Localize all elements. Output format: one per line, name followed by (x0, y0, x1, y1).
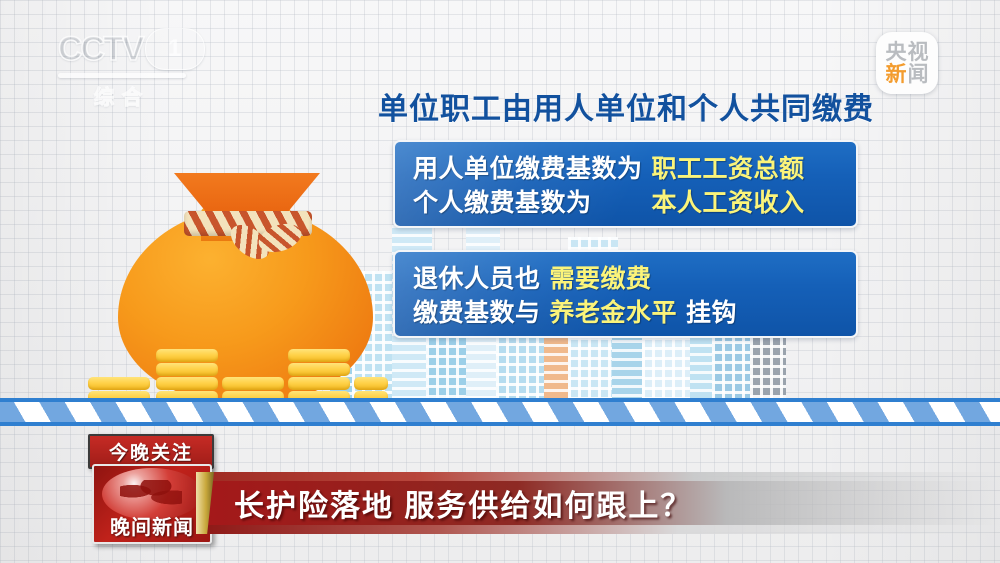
lower-third-headline: 长护险落地 服务供给如何跟上？ (234, 481, 692, 525)
info-line-plain: 缴费基数与 (413, 293, 541, 329)
retiree-contribution-box: 退休人员也 需要缴费 缴费基数与 养老金水平 挂钩 (393, 250, 858, 338)
coin (288, 363, 350, 376)
program-logo: 晚间新闻 (92, 464, 212, 544)
info-line-highlight: 需要缴费 (550, 259, 652, 295)
coin (222, 377, 284, 390)
info-line-plain: 退休人员也 (413, 259, 541, 295)
coin-stack-2 (156, 349, 218, 405)
app-icon-char-shi: 视 (908, 42, 929, 63)
coin (288, 349, 350, 362)
info-line: 缴费基数与 养老金水平 挂钩 (413, 294, 838, 328)
headline-bar: 长护险落地 服务供给如何跟上？ (196, 472, 1000, 534)
cctv-channel-subtitle: 综合 (58, 81, 186, 110)
app-icon-char-yang: 央 (886, 42, 907, 63)
lower-third: 今晚关注 晚间新闻 长护险落地 服务供给如何跟上？ (0, 428, 1000, 553)
app-icon-char-xin: 新 (886, 64, 907, 85)
info-line-highlight: 养老金水平 (550, 293, 678, 329)
headline-bar-bottom-edge (196, 525, 1000, 534)
coin (156, 349, 218, 362)
cctv-logo-bar (58, 73, 186, 78)
coin (156, 363, 218, 376)
ground-stripe (0, 398, 1000, 426)
ground-edge-bottom (0, 422, 1000, 426)
info-line-plain: 个人缴费基数为 (413, 183, 592, 219)
contribution-base-box: 用人单位缴费基数为 职工工资总额 个人缴费基数为 本人工资收入 (393, 140, 858, 228)
app-icon-row-bottom: 新 闻 (886, 64, 929, 85)
main-headline: 单位职工由用人单位和个人共同缴费 (378, 84, 878, 128)
info-line: 用人单位缴费基数为 职工工资总额 (413, 150, 838, 184)
info-line-highlight: 本人工资收入 (652, 183, 805, 219)
cctv-news-app-icon: 央 视 新 闻 (876, 32, 938, 94)
coin (288, 377, 350, 390)
app-icon-row-top: 央 视 (886, 42, 929, 63)
coin-stacks (88, 335, 388, 405)
program-logo-label: 晚间新闻 (94, 511, 210, 540)
cctv-wordmark: CCTV (58, 30, 143, 69)
info-line: 个人缴费基数为 本人工资收入 (413, 184, 838, 218)
coin-stack-4 (288, 349, 350, 405)
broadcast-frame: CCTV 1 综合 央 视 新 闻 单位职工由用人单位和个人共同缴费 用人单位缴… (0, 0, 1000, 563)
cctv-channel-number: 1 (145, 28, 205, 70)
coin (156, 377, 218, 390)
coin (88, 377, 150, 390)
info-line-tail: 挂钩 (686, 293, 737, 329)
info-line-highlight: 职工工资总额 (652, 149, 805, 185)
cctv-logo-row: CCTV 1 (58, 28, 208, 70)
cctv-channel-logo: CCTV 1 综合 (58, 28, 208, 108)
info-line-plain: 用人单位缴费基数为 (413, 149, 643, 185)
headline-bar-top-edge (196, 472, 1000, 481)
coin (354, 377, 388, 390)
info-line: 退休人员也 需要缴费 (413, 260, 838, 294)
ground-stripe-pattern (0, 402, 1000, 422)
app-icon-char-wen: 闻 (908, 64, 929, 85)
